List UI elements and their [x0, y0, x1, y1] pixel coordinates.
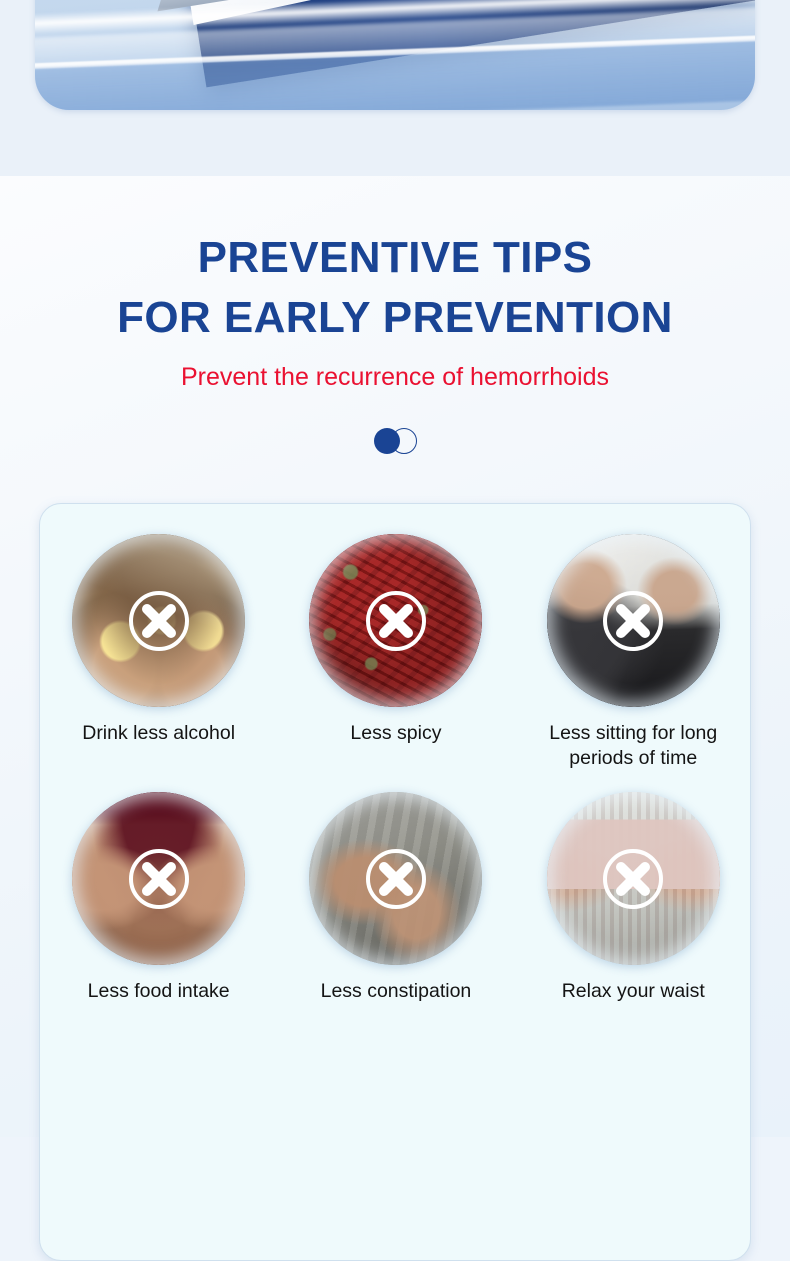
product-box-graphic: ♘ ➜ ⏱ — [170, 0, 755, 87]
stomach-pain-photo — [309, 792, 482, 965]
tip-label: Relax your waist — [526, 979, 741, 1004]
belly-hands-photo — [72, 792, 245, 965]
tip-item-less-spicy[interactable]: Less spicy — [277, 534, 514, 792]
prohibition-x-icon — [602, 848, 664, 910]
page-title-line-2: FOR EARLY PREVENTION — [0, 288, 790, 348]
preventive-tips-section: PREVENTIVE TIPS FOR EARLY PREVENTION Pre… — [0, 176, 790, 1137]
tip-label: Less sitting for long periods of time — [526, 721, 741, 771]
tip-item-less-sitting[interactable]: Less sitting for long periods of time — [515, 534, 752, 792]
pagination-dot-inactive[interactable] — [391, 428, 417, 454]
prohibition-x-icon — [128, 590, 190, 652]
tips-grid: Drink less alcohol — [40, 534, 752, 1050]
product-detail-page: ♘ ➜ ⏱ Specifications: 30g/box PREVENTIVE… — [0, 0, 790, 1137]
tip-label: Less constipation — [288, 979, 503, 1004]
tip-item-drink-less-alcohol[interactable]: Drink less alcohol — [40, 534, 277, 792]
page-subtitle: Prevent the recurrence of hemorrhoids — [0, 362, 790, 392]
sitting-person-photo — [547, 534, 720, 707]
chili-peppers-photo — [309, 534, 482, 707]
tip-item-less-food-intake[interactable]: Less food intake — [40, 792, 277, 1050]
tip-item-relax-your-waist[interactable]: Relax your waist — [515, 792, 752, 1050]
alcohol-photo — [72, 534, 245, 707]
tip-label: Less spicy — [288, 721, 503, 746]
section-heading-block: PREVENTIVE TIPS FOR EARLY PREVENTION Pre… — [0, 228, 790, 392]
tip-label: Drink less alcohol — [51, 721, 266, 746]
page-title-line-1: PREVENTIVE TIPS — [0, 228, 790, 288]
tip-item-less-constipation[interactable]: Less constipation — [277, 792, 514, 1050]
product-hero-image: ♘ ➜ ⏱ Specifications: 30g/box — [35, 0, 755, 110]
pagination-dots — [0, 428, 790, 454]
prohibition-x-icon — [365, 848, 427, 910]
tips-card-container: Drink less alcohol — [39, 503, 751, 1261]
tip-label: Less food intake — [51, 979, 266, 1004]
product-banner-section: ♘ ➜ ⏱ Specifications: 30g/box — [0, 0, 790, 176]
prohibition-x-icon — [365, 590, 427, 652]
prohibition-x-icon — [602, 590, 664, 652]
prohibition-x-icon — [128, 848, 190, 910]
waist-belt-photo — [547, 792, 720, 965]
